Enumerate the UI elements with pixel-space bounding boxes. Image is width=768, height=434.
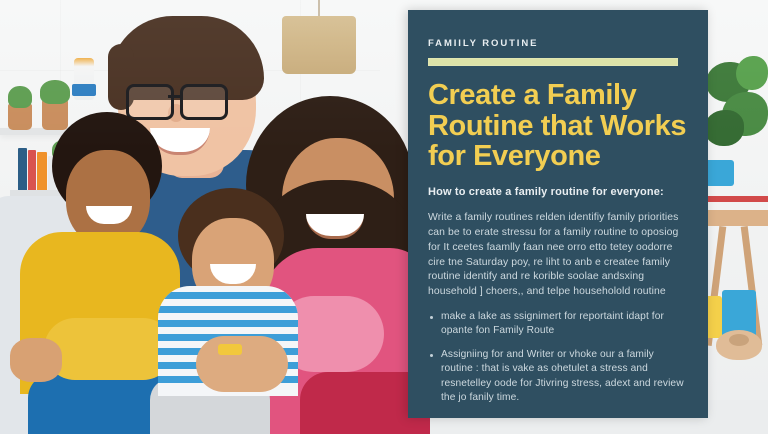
- father-glasses-bridge: [168, 95, 182, 98]
- panel-kicker: FAMIILY ROUTINE: [428, 38, 688, 49]
- potted-plant: [8, 86, 32, 108]
- title-line-2: Routine that Works: [428, 111, 688, 142]
- father-glasses-right-lens: [180, 84, 228, 120]
- houseplant-leaf: [704, 110, 744, 146]
- list-item: make a lake as ssignimert for reportaint…: [428, 310, 688, 339]
- wooden-bowl-opening: [729, 334, 749, 346]
- panel-subheading: How to create a family routine for every…: [428, 186, 688, 198]
- houseplant-leaf: [736, 56, 768, 90]
- hero-graphic: FAMIILY ROUTINE Create a Family Routine …: [0, 0, 768, 434]
- boy-sleeve: [44, 318, 174, 380]
- title-divider-bar: [428, 58, 678, 66]
- boy-hand: [10, 338, 62, 382]
- page-title: Create a Family Routine that Works for E…: [428, 80, 688, 172]
- plant-pot: [42, 100, 68, 130]
- book: [37, 152, 47, 192]
- book: [28, 150, 36, 192]
- father-glasses-left-lens: [126, 84, 174, 120]
- panel-bullet-list: make a lake as ssignimert for reportaint…: [428, 310, 688, 406]
- list-item: Assigniing for and Writer or vhoke our a…: [428, 348, 688, 406]
- bottle-label: [72, 84, 96, 96]
- pendant-lamp: [282, 16, 356, 74]
- potted-plant: [40, 80, 70, 104]
- panel-body-paragraph: Write a family routines relden identifiy…: [428, 211, 688, 300]
- red-marker: [700, 196, 768, 202]
- toddler-hands: [196, 336, 288, 392]
- title-line-1: Create a Family: [428, 80, 688, 111]
- title-line-3: for Everyone: [428, 141, 688, 172]
- text-panel: FAMIILY ROUTINE Create a Family Routine …: [408, 10, 708, 418]
- book: [18, 148, 27, 192]
- side-table-top: [700, 210, 768, 226]
- crayon: [218, 344, 242, 355]
